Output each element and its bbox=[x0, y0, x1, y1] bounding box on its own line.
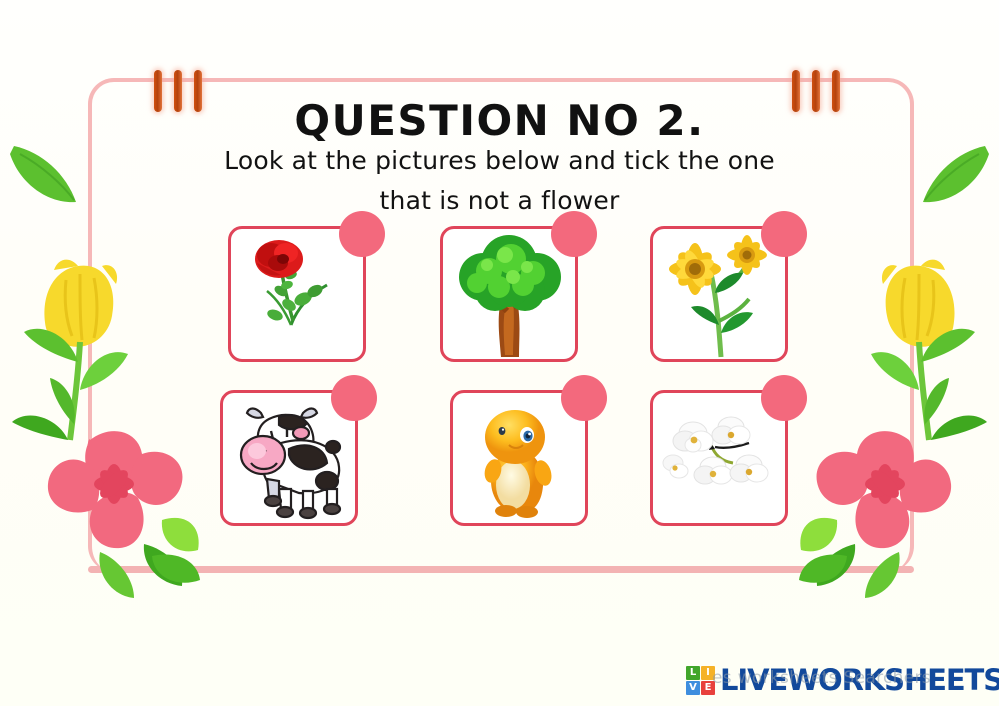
live-logo-icon: L I V E bbox=[686, 666, 715, 695]
live-logo-v: V bbox=[686, 681, 700, 695]
tick-option-tree[interactable] bbox=[551, 211, 597, 257]
card-rose[interactable] bbox=[228, 226, 366, 362]
card-sunflower[interactable] bbox=[650, 226, 788, 362]
instruction-line-1: Look at the pictures below and tick the … bbox=[0, 146, 999, 175]
live-logo-l: L bbox=[686, 666, 700, 680]
worksheet-page: QUESTION NO 2. Look at the pictures belo… bbox=[0, 0, 999, 706]
worksheet-frame-bottom-line bbox=[88, 566, 914, 573]
liveworksheets-watermark: es worksheets Searchers L I V E LIVEWORK… bbox=[686, 658, 986, 702]
tick-option-cow[interactable] bbox=[331, 375, 377, 421]
tick-option-creature[interactable] bbox=[561, 375, 607, 421]
card-creature[interactable] bbox=[450, 390, 588, 526]
tick-option-sunflower[interactable] bbox=[761, 211, 807, 257]
card-tree[interactable] bbox=[440, 226, 578, 362]
card-cow[interactable] bbox=[220, 390, 358, 526]
card-orchid[interactable] bbox=[650, 390, 788, 526]
tick-option-rose[interactable] bbox=[339, 211, 385, 257]
tick-option-orchid[interactable] bbox=[761, 375, 807, 421]
instruction-line-2: that is not a flower bbox=[0, 186, 999, 215]
watermark-ghost-text: es worksheets Searchers bbox=[712, 668, 931, 688]
page-title: QUESTION NO 2. bbox=[0, 96, 999, 145]
